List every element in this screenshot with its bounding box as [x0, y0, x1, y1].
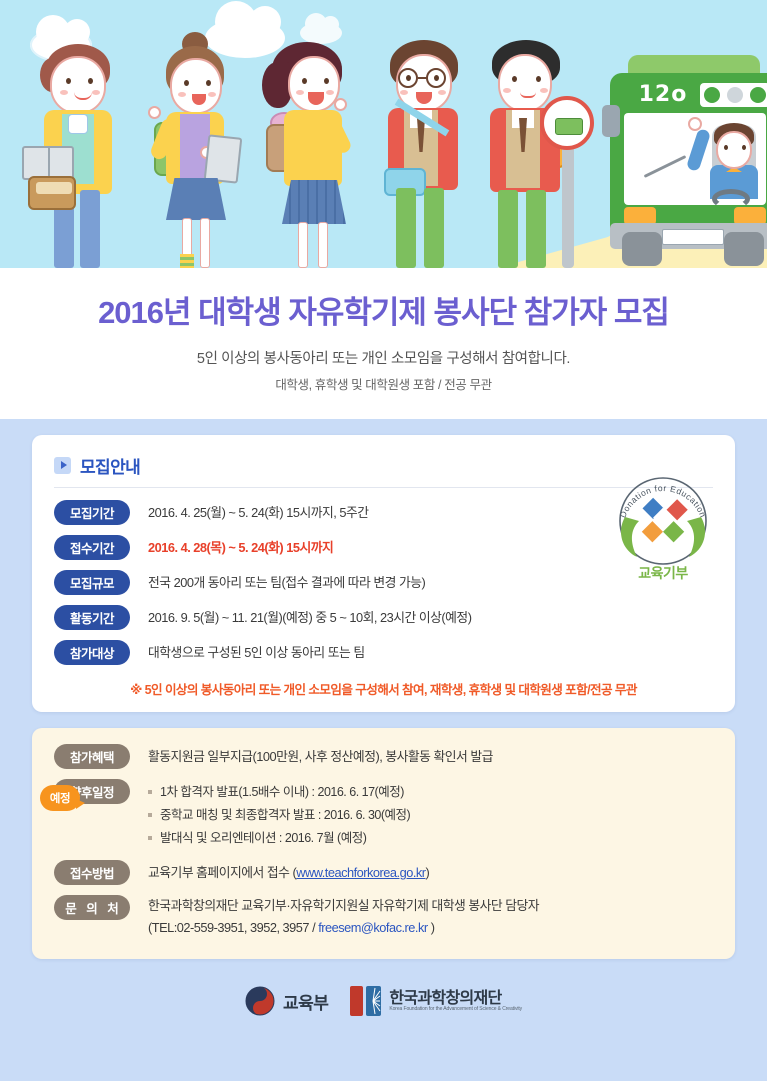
list-item: 중학교 매칭 및 최종합격자 발표 : 2016. 6. 30(예정): [148, 804, 410, 827]
row-label: 접수방법: [54, 860, 130, 885]
table-row: 예정 향후일정 1차 합격자 발표(1.5배수 이내) : 2016. 6. 1…: [54, 779, 713, 850]
subtitle-secondary: 대학생, 휴학생 및 대학원생 포함 / 전공 무관: [0, 374, 767, 393]
list-item: 1차 합격자 발표(1.5배수 이내) : 2016. 6. 17(예정): [148, 781, 410, 804]
apply-text-suffix: ): [426, 865, 430, 880]
row-label: 접수기간: [54, 535, 130, 560]
donation-for-education-emblem: Donation for Education 교육기부: [609, 473, 717, 585]
row-value: 대학생으로 구성된 5인 이상 동아리 또는 팀: [148, 640, 365, 665]
kofac-mark-icon: [350, 986, 381, 1016]
bus-stop-sign-icon: [540, 96, 594, 150]
row-label: 활동기간: [54, 605, 130, 630]
kofac-name-en: Korea Foundation for the Advancement of …: [389, 1007, 522, 1013]
row-value: 2016. 4. 25(월) ~ 5. 24(화) 15시까지, 5주간: [148, 500, 369, 525]
contact-tel-suffix: ): [428, 920, 435, 935]
recruitment-info-panel: 모집안내 모집기간 2016. 4. 25(월) ~ 5. 24(화) 15시까…: [32, 435, 735, 712]
table-row: 접수방법 교육기부 홈페이지에서 접수 (www.teachforkorea.g…: [54, 860, 713, 885]
student-character-1: [24, 18, 134, 268]
contact-email-link[interactable]: freesem@kofac.re.kr: [318, 920, 427, 935]
page-title: 2016년 대학생 자유학기제 봉사단 참가자 모집: [0, 294, 767, 333]
kofac-name-ko: 한국과학창의재단: [389, 990, 522, 1008]
info-note: ※ 5인 이상의 봉사동아리 또는 개인 소모임을 구성해서 참여, 재학생, …: [54, 679, 713, 698]
kofac-logo: 한국과학창의재단 Korea Foundation for the Advanc…: [350, 986, 522, 1016]
extra-rows: 참가혜택 활동지원금 일부지급(100만원, 사후 정산예정), 봉사활동 확인…: [54, 744, 713, 939]
emblem-graphic: Donation for Education: [611, 473, 715, 565]
kofac-name-block: 한국과학창의재단 Korea Foundation for the Advanc…: [389, 990, 522, 1013]
row-value: 전국 200개 동아리 또는 팀(접수 결과에 따라 변경 가능): [148, 570, 425, 595]
row-value: 교육기부 홈페이지에서 접수 (www.teachforkorea.go.kr): [148, 860, 429, 885]
apply-text-prefix: 교육기부 홈페이지에서 접수 (: [148, 865, 296, 880]
row-value: 활동지원금 일부지급(100만원, 사후 정산예정), 봉사활동 확인서 발급: [148, 744, 493, 769]
steering-wheel-icon: [712, 189, 750, 209]
list-item: 발대식 및 오리엔테이션 : 2016. 7월 (예정): [148, 827, 410, 850]
satchel-icon: [28, 176, 76, 210]
row-label: 모집기간: [54, 500, 130, 525]
student-character-2: [140, 18, 250, 268]
row-label: 모집규모: [54, 570, 130, 595]
ministry-of-education-name: 교육부: [283, 989, 328, 1014]
hero-illustration: 12o: [0, 0, 767, 268]
contact-line-1: 한국과학창의재단 교육기부·자유학기지원실 자유학기제 대학생 봉사단 담당자: [148, 898, 539, 913]
row-value: 한국과학창의재단 교육기부·자유학기지원실 자유학기제 대학생 봉사단 담당자 …: [148, 895, 539, 939]
status-badge: 예정: [40, 785, 80, 811]
bus-route-number: 12o: [628, 81, 698, 109]
benefits-panel: 참가혜택 활동지원금 일부지급(100만원, 사후 정산예정), 봉사활동 확인…: [32, 728, 735, 959]
contact-tel-prefix: (TEL:02-559-3951, 3952, 3957 /: [148, 920, 318, 935]
glasses-icon: [396, 68, 454, 88]
ministry-of-education-logo: 교육부: [245, 986, 328, 1016]
bus-destination-lights: [700, 83, 767, 107]
row-value-highlighted: 2016. 4. 28(목) ~ 5. 24(화) 15시까지: [148, 535, 333, 560]
table-row: 활동기간 2016. 9. 5(월) ~ 11. 21(월)(예정) 중 5 ~…: [54, 605, 713, 630]
subtitle-primary: 5인 이상의 봉사동아리 또는 개인 소모임을 구성해서 참여합니다.: [0, 347, 767, 368]
row-value: 2016. 9. 5(월) ~ 11. 21(월)(예정) 중 5 ~ 10회,…: [148, 605, 471, 630]
bus-illustration: 12o: [600, 47, 767, 262]
student-character-3: [252, 18, 367, 268]
tablet-icon: [204, 134, 243, 183]
content-area: 모집안내 모집기간 2016. 4. 25(월) ~ 5. 24(화) 15시까…: [0, 419, 767, 1029]
taegeuk-icon: [245, 986, 275, 1016]
row-label: 참가혜택: [54, 744, 130, 769]
schedule-list: 1차 합격자 발표(1.5배수 이내) : 2016. 6. 17(예정) 중학…: [148, 779, 410, 850]
table-row: 참가혜택 활동지원금 일부지급(100만원, 사후 정산예정), 봉사활동 확인…: [54, 744, 713, 769]
footer-logos: 교육부 한국과학창의재단 Kore: [32, 973, 735, 1029]
section-title: 모집안내: [80, 453, 140, 478]
title-card: 2016년 대학생 자유학기제 봉사단 참가자 모집 5인 이상의 봉사동아리 …: [0, 268, 767, 419]
table-row: 참가대상 대학생으로 구성된 5인 이상 동아리 또는 팀: [54, 640, 713, 665]
book-icon: [22, 146, 74, 180]
row-label: 참가대상: [54, 640, 130, 665]
play-triangle-icon: [54, 457, 71, 474]
row-label: 문 의 처: [54, 895, 130, 920]
emblem-label: 교육기부: [609, 563, 717, 583]
application-website-link[interactable]: www.teachforkorea.go.kr: [296, 865, 425, 880]
table-row: 문 의 처 한국과학창의재단 교육기부·자유학기지원실 자유학기제 대학생 봉사…: [54, 895, 713, 939]
student-character-4: [368, 18, 483, 268]
